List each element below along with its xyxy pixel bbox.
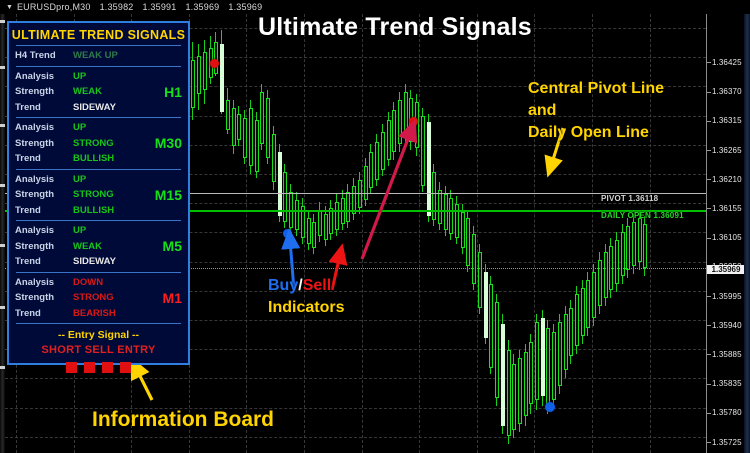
row-value: SIDEWAY xyxy=(73,102,148,113)
candlestick xyxy=(335,194,340,236)
quote-high: 1.35991 xyxy=(143,2,177,12)
timeframe-badge: M5 xyxy=(163,238,182,254)
price-tick: 1.36210 xyxy=(707,175,745,184)
price-tick: 1.36105 xyxy=(707,233,745,242)
candlestick xyxy=(484,264,489,344)
symbol-label: EURUSDpro,M30 xyxy=(17,2,91,12)
candlestick xyxy=(243,110,248,164)
row-value: UP xyxy=(73,225,148,236)
candlestick xyxy=(266,90,271,164)
candlestick xyxy=(249,100,254,174)
price-tick: 1.36315 xyxy=(707,116,745,125)
candlestick xyxy=(329,200,334,240)
price-tick: 1.36155 xyxy=(707,204,745,213)
price-tick: 1.35995 xyxy=(707,292,745,301)
candlestick xyxy=(220,30,225,114)
board-title: ULTIMATE TREND SIGNALS xyxy=(9,28,188,42)
board-divider xyxy=(16,169,181,170)
candlestick xyxy=(375,134,380,186)
board-divider xyxy=(16,45,181,46)
chart-title-annotation: Ultimate Trend Signals xyxy=(258,13,532,42)
candlestick xyxy=(564,306,569,378)
row-value: BEARISH xyxy=(73,308,148,319)
alert-square xyxy=(66,362,77,373)
board-row-trend-h1: TrendSIDEWAY xyxy=(9,100,188,116)
row-label: Trend xyxy=(15,102,73,113)
candlestick xyxy=(226,88,231,134)
candlestick xyxy=(387,112,392,166)
candlestick xyxy=(501,314,506,434)
candlestick xyxy=(404,84,409,144)
candlestick xyxy=(541,310,546,406)
quote-open: 1.35982 xyxy=(100,2,134,12)
sell-signal-dot xyxy=(409,117,418,126)
candlestick xyxy=(214,32,219,76)
candlestick xyxy=(546,320,551,414)
row-label: Trend xyxy=(15,153,73,164)
pivot-line-label: PIVOT 1.36118 xyxy=(601,194,658,203)
information-board-panel[interactable]: ULTIMATE TREND SIGNALS H4 Trend WEAK UP … xyxy=(7,21,190,365)
row-label: Analysis xyxy=(15,277,73,288)
timeframe-group-m30: AnalysisUPStrengthSTRONGTrendBULLISHM30 xyxy=(9,120,188,167)
grid-line-vertical xyxy=(362,14,363,453)
candlestick xyxy=(466,210,471,272)
candlestick xyxy=(643,216,648,276)
board-row-h4-trend: H4 Trend WEAK UP xyxy=(9,48,188,64)
row-label: Strength xyxy=(15,138,73,149)
board-row-trend-m5: TrendSIDEWAY xyxy=(9,254,188,270)
candlestick xyxy=(524,344,529,426)
candlestick xyxy=(283,164,288,228)
quote-close: 1.35969 xyxy=(228,2,262,12)
row-label: Analysis xyxy=(15,71,73,82)
candlestick xyxy=(626,218,631,278)
row-label: Analysis xyxy=(15,174,73,185)
candlestick xyxy=(364,158,369,206)
candlestick xyxy=(203,40,208,104)
candlestick xyxy=(260,84,265,150)
grid-line-vertical xyxy=(246,14,247,453)
alert-square xyxy=(120,362,131,373)
row-value: SIDEWAY xyxy=(73,256,148,267)
terminal-quote-bar: ▼EURUSDpro,M301.359821.359911.359691.359… xyxy=(0,0,750,14)
alert-squares xyxy=(9,362,188,373)
candlestick xyxy=(191,42,196,120)
board-row-analysis-m30: AnalysisUP xyxy=(9,120,188,136)
row-label: Trend xyxy=(15,308,73,319)
board-row-trend-m30: TrendBULLISH xyxy=(9,151,188,167)
board-row-strength-h1: StrengthWEAK xyxy=(9,84,188,100)
candlestick xyxy=(569,300,574,364)
candlestick xyxy=(318,202,323,242)
candlestick xyxy=(512,354,517,438)
candlestick xyxy=(507,340,512,444)
row-label: Analysis xyxy=(15,122,73,133)
candlestick xyxy=(455,196,460,244)
candlestick xyxy=(449,190,454,240)
price-tick: 1.35940 xyxy=(707,321,745,330)
board-divider xyxy=(16,323,181,324)
candlestick xyxy=(237,106,242,146)
row-value: BULLISH xyxy=(73,153,148,164)
candlestick xyxy=(432,164,437,226)
timeframe-badge: H1 xyxy=(164,84,182,100)
board-divider xyxy=(16,117,181,118)
price-tick: 1.35725 xyxy=(707,438,745,447)
timeframe-badge: M30 xyxy=(155,135,182,151)
quote-low: 1.35969 xyxy=(185,2,219,12)
candlestick xyxy=(255,112,260,178)
candlestick xyxy=(438,182,443,230)
candlestick xyxy=(197,44,202,110)
h4-trend-label: H4 Trend xyxy=(15,50,73,61)
h4-trend-value: WEAK UP xyxy=(73,50,182,61)
alert-square xyxy=(84,362,95,373)
current-price-label: 1.35969 xyxy=(707,265,745,274)
price-axis[interactable]: 1.364251.363701.363151.362651.362101.361… xyxy=(706,14,745,453)
trading-terminal-screenshot: ▼EURUSDpro,M301.359821.359911.359691.359… xyxy=(0,0,750,453)
price-tick: 1.35780 xyxy=(707,408,745,417)
row-label: Strength xyxy=(15,86,73,97)
candlestick xyxy=(586,272,591,336)
candlestick xyxy=(295,192,300,236)
timeframe-groups: AnalysisUPStrengthWEAKTrendSIDEWAYH1Anal… xyxy=(9,69,188,322)
board-row-trend-m1: TrendBEARISH xyxy=(9,306,188,322)
row-value: STRONG xyxy=(73,138,148,149)
row-label: Trend xyxy=(15,205,73,216)
timeframe-group-m15: AnalysisUPStrengthSTRONGTrendBULLISHM15 xyxy=(9,172,188,219)
row-value: DOWN xyxy=(73,277,148,288)
candlestick xyxy=(604,244,609,306)
board-row-strength-m1: StrengthSTRONG xyxy=(9,290,188,306)
grid-line-vertical xyxy=(419,14,420,453)
buy-label: Buy xyxy=(268,277,298,294)
candlestick xyxy=(581,280,586,344)
row-value: UP xyxy=(73,174,148,185)
pivot-callout-line-1: Central Pivot Line xyxy=(528,78,664,100)
row-value: WEAK xyxy=(73,86,148,97)
candlestick xyxy=(346,184,351,228)
row-value: WEAK xyxy=(73,241,148,252)
candlestick xyxy=(495,294,500,406)
row-value: STRONG xyxy=(73,189,148,200)
timeframe-group-m1: AnalysisDOWNStrengthSTRONGTrendBEARISHM1 xyxy=(9,275,188,322)
candlestick xyxy=(392,102,397,160)
row-value: STRONG xyxy=(73,292,148,303)
candlestick xyxy=(632,214,637,274)
candlestick xyxy=(427,114,432,222)
timeframe-badge: M15 xyxy=(155,187,182,203)
row-value: UP xyxy=(73,71,148,82)
pivot-callout-annotation: Central Pivot Line and Daily Open Line xyxy=(528,78,664,144)
board-row-analysis-m1: AnalysisDOWN xyxy=(9,275,188,291)
candlestick xyxy=(529,334,534,414)
daily-open-line-label: DAILY OPEN 1.36091 xyxy=(601,211,684,220)
buy-signal-dot xyxy=(283,229,292,238)
grid-line-horizontal xyxy=(0,378,706,379)
timeframe-badge: M1 xyxy=(163,290,182,306)
candlestick xyxy=(421,108,426,192)
candlestick xyxy=(312,214,317,254)
timeframe-group-h1: AnalysisUPStrengthWEAKTrendSIDEWAYH1 xyxy=(9,69,188,116)
board-divider xyxy=(16,66,181,67)
candlestick xyxy=(307,210,312,250)
left-scrollbar[interactable] xyxy=(0,14,5,453)
grid-line-vertical xyxy=(477,14,478,453)
candlestick xyxy=(592,264,597,326)
indicators-label: Indicators xyxy=(268,297,344,319)
candlestick xyxy=(381,124,386,176)
candlestick xyxy=(289,184,294,232)
board-row-analysis-m15: AnalysisUP xyxy=(9,172,188,188)
price-tick: 1.36370 xyxy=(707,87,745,96)
board-row-trend-m15: TrendBULLISH xyxy=(9,203,188,219)
candlestick xyxy=(232,100,237,154)
candlestick xyxy=(621,224,626,284)
right-scrollbar[interactable] xyxy=(744,0,750,453)
candlestick xyxy=(575,286,580,354)
candlestick xyxy=(558,314,563,394)
sell-signal-dot xyxy=(210,59,219,68)
sell-label: Sell xyxy=(303,277,331,294)
candlestick xyxy=(324,206,329,246)
row-label: Trend xyxy=(15,256,73,267)
candlestick xyxy=(518,350,523,432)
chevron-down-icon[interactable]: ▼ xyxy=(6,1,13,15)
board-divider xyxy=(16,220,181,221)
candlestick xyxy=(352,178,357,220)
alert-square xyxy=(102,362,113,373)
board-row-analysis-h1: AnalysisUP xyxy=(9,69,188,85)
candlestick xyxy=(535,314,540,410)
board-divider xyxy=(16,272,181,273)
price-tick: 1.35885 xyxy=(707,350,745,359)
board-row-analysis-m5: AnalysisUP xyxy=(9,223,188,239)
buysell-callout-annotation: Buy/Sell Indicators xyxy=(268,275,344,319)
candlestick xyxy=(598,252,603,314)
price-tick: 1.35835 xyxy=(707,379,745,388)
entry-signal-text: SHORT SELL ENTRY xyxy=(9,344,188,356)
grid-line-horizontal xyxy=(0,437,706,438)
candlestick xyxy=(369,144,374,194)
row-label: Strength xyxy=(15,292,73,303)
buy-signal-dot xyxy=(545,402,555,412)
information-board-annotation: Information Board xyxy=(92,408,274,432)
entry-signal-title: -- Entry Signal -- xyxy=(9,329,188,341)
candlestick xyxy=(301,198,306,244)
price-tick: 1.36265 xyxy=(707,146,745,155)
row-label: Strength xyxy=(15,189,73,200)
candlestick xyxy=(472,226,477,290)
row-value: BULLISH xyxy=(73,205,148,216)
row-value: UP xyxy=(73,122,148,133)
candlestick xyxy=(552,324,557,410)
candlestick xyxy=(615,232,620,292)
candlestick xyxy=(489,276,494,374)
row-label: Analysis xyxy=(15,225,73,236)
candlestick xyxy=(478,244,483,314)
row-label: Strength xyxy=(15,241,73,252)
board-row-strength-m5: StrengthWEAK xyxy=(9,239,188,255)
pivot-callout-line-3: Daily Open Line xyxy=(528,122,664,144)
candlestick xyxy=(272,126,277,190)
price-tick: 1.36425 xyxy=(707,58,745,67)
pivot-callout-line-2: and xyxy=(528,100,664,122)
timeframe-group-m5: AnalysisUPStrengthWEAKTrendSIDEWAYM5 xyxy=(9,223,188,270)
candlestick xyxy=(398,92,403,152)
